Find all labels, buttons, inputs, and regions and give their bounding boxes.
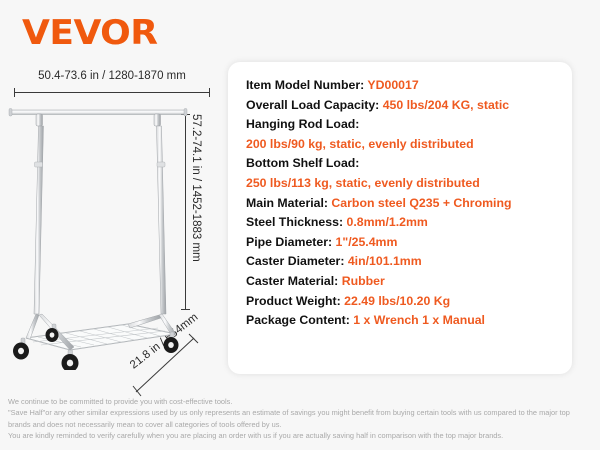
spec-value: 22.49 lbs/10.20 Kg	[344, 294, 450, 308]
spec-label: Overall Load Capacity:	[246, 98, 379, 112]
spec-row: Bottom Shelf Load:250 lbs/113 kg, static…	[246, 154, 562, 193]
spec-label: Hanging Rod Load:	[246, 117, 359, 131]
specification-panel: Item Model Number: YD00017Overall Load C…	[228, 62, 572, 374]
specification-list: Item Model Number: YD00017Overall Load C…	[228, 76, 572, 331]
spec-value: 200 lbs/90 kg, static, evenly distribute…	[246, 135, 562, 155]
height-dimension-label: 57.2-74.1 in / 1452-1883 mm	[190, 114, 202, 310]
spec-row: Item Model Number: YD00017	[246, 76, 562, 96]
spec-value: 0.8mm/1.2mm	[346, 215, 427, 229]
spec-value: 1"/25.4mm	[336, 235, 398, 249]
spec-value: 4in/101.1mm	[348, 254, 422, 268]
spec-row: Caster Diameter: 4in/101.1mm	[246, 252, 562, 272]
spec-row: Overall Load Capacity: 450 lbs/204 KG, s…	[246, 96, 562, 116]
spec-row: Product Weight: 22.49 lbs/10.20 Kg	[246, 292, 562, 312]
spec-label: Main Material:	[246, 196, 328, 210]
spec-value: Rubber	[342, 274, 385, 288]
spec-label: Bottom Shelf Load:	[246, 156, 359, 170]
spec-row: Main Material: Carbon steel Q235 + Chrom…	[246, 194, 562, 214]
garment-rack-illustration	[8, 102, 188, 370]
spec-value: 250 lbs/113 kg, static, evenly distribut…	[246, 174, 562, 194]
spec-row: Pipe Diameter: 1"/25.4mm	[246, 233, 562, 253]
spec-label: Pipe Diameter:	[246, 235, 332, 249]
vevor-logo: VEVOR	[22, 16, 158, 50]
spec-row: Caster Material: Rubber	[246, 272, 562, 292]
spec-value: YD00017	[367, 78, 418, 92]
width-dimension-line	[14, 92, 210, 93]
spec-label: Product Weight:	[246, 294, 341, 308]
spec-label: Caster Material:	[246, 274, 338, 288]
spec-row: Steel Thickness: 0.8mm/1.2mm	[246, 213, 562, 233]
spec-row: Package Content: 1 x Wrench 1 x Manual	[246, 311, 562, 331]
width-dimension-label: 50.4-73.6 in / 1280-1870 mm	[12, 70, 212, 82]
product-diagram: 50.4-73.6 in / 1280-1870 mm 57.2-74.1 in…	[0, 62, 232, 392]
spec-label: Steel Thickness:	[246, 215, 343, 229]
spec-label: Item Model Number:	[246, 78, 364, 92]
disclaimer-line-3: You are kindly reminded to verify carefu…	[8, 430, 594, 441]
spec-value: Carbon steel Q235 + Chroming	[331, 196, 511, 210]
spec-row: Hanging Rod Load:200 lbs/90 kg, static, …	[246, 115, 562, 154]
spec-value: 450 lbs/204 KG, static	[383, 98, 509, 112]
spec-label: Caster Diameter:	[246, 254, 344, 268]
spec-value: 1 x Wrench 1 x Manual	[353, 313, 485, 327]
disclaimer-line-1: We continue to be committed to provide y…	[8, 396, 594, 407]
disclaimer-line-2: "Save Half"or any other similar expressi…	[8, 407, 594, 430]
disclaimer-footer: We continue to be committed to provide y…	[8, 396, 594, 442]
spec-label: Package Content:	[246, 313, 350, 327]
